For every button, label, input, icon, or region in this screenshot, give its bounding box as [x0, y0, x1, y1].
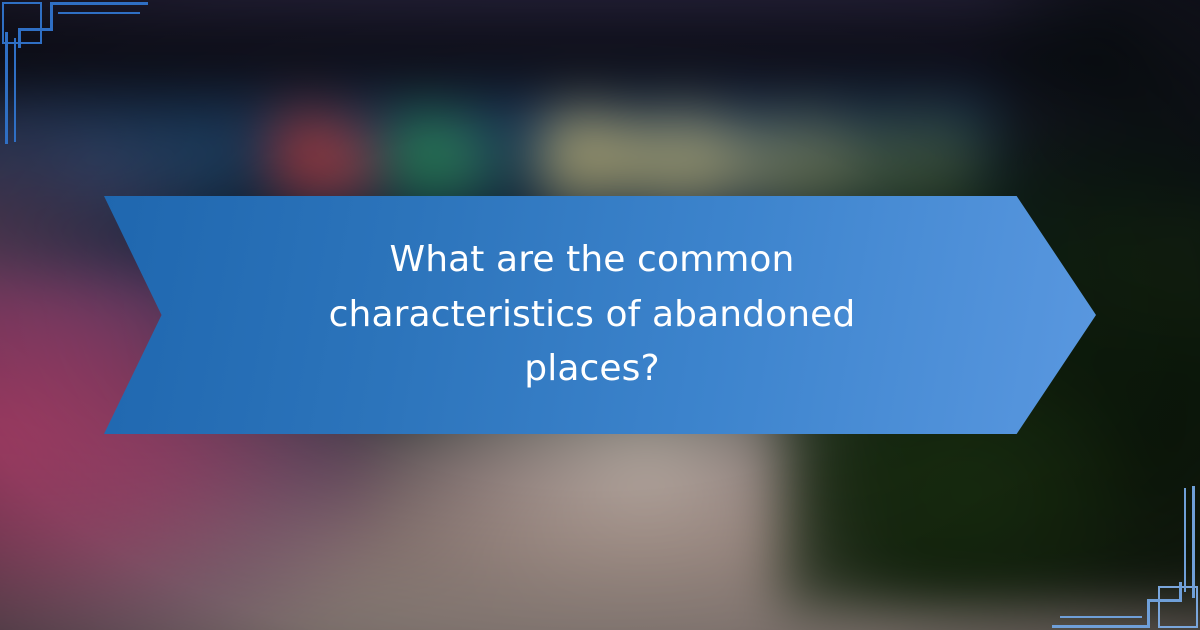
question-banner: What are the common characteristics of a… — [104, 196, 1096, 434]
question-text: What are the common characteristics of a… — [250, 233, 950, 397]
screenshot-canvas: What are the common characteristics of a… — [0, 0, 1200, 630]
